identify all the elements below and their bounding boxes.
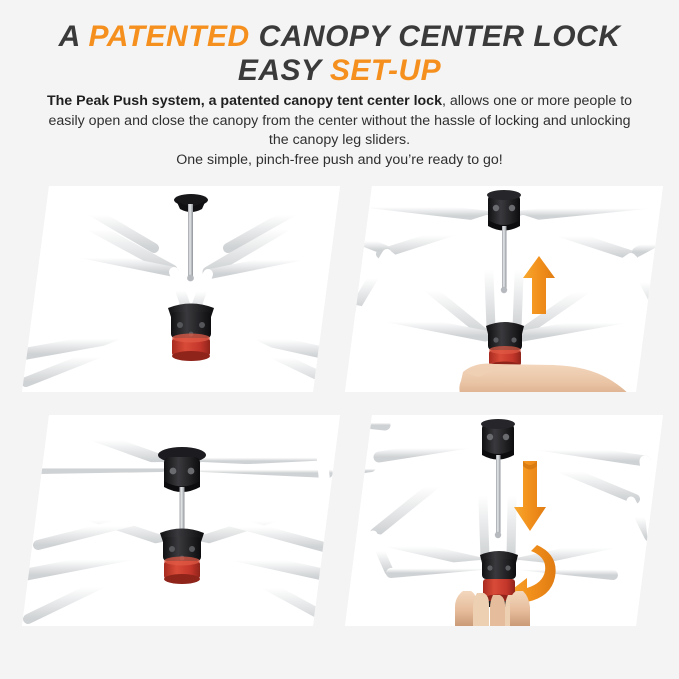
panel-grid (0, 186, 679, 641)
headline-line1-post: CANOPY CENTER LOCK (250, 20, 621, 53)
panel-top-left[interactable] (22, 186, 340, 392)
canopy-frame-release-twist-illustration (345, 415, 663, 626)
panel-top-right[interactable] (345, 186, 663, 392)
hands-grip-icon (455, 591, 530, 626)
page-title: A PATENTED CANOPY CENTER LOCK EASY SET-U… (0, 20, 679, 88)
panel-bottom-left[interactable] (22, 415, 340, 626)
center-lock-hub (486, 322, 524, 371)
peak-hub-icon (481, 419, 515, 460)
description-strong: The Peak Push system, a patented canopy … (47, 93, 442, 109)
canopy-frame-push-up-illustration (345, 186, 663, 392)
product-feature-infographic: A PATENTED CANOPY CENTER LOCK EASY SET-U… (0, 0, 679, 679)
center-rod (496, 455, 501, 533)
peak-hub-icon (158, 447, 206, 492)
headline-accent-patented: PATENTED (89, 20, 250, 53)
headline-line2-pre: EASY (238, 54, 330, 87)
center-rod (188, 204, 193, 276)
center-lock-hub (160, 529, 204, 585)
canopy-frame-collapsed-illustration (22, 186, 340, 392)
headline-line1-pre: A (59, 20, 89, 53)
description-paragraph: The Peak Push system, a patented canopy … (38, 92, 641, 170)
description-last-line: One simple, pinch-free push and you’re r… (176, 152, 503, 168)
headline-accent-setup: SET-UP (330, 54, 441, 87)
headline-line-2: EASY SET-UP (0, 54, 679, 88)
panel-bottom-right[interactable] (345, 415, 663, 626)
canopy-frame-locked-open-illustration (22, 415, 340, 626)
peak-hub-icon (487, 190, 521, 231)
headline-line-1: A PATENTED CANOPY CENTER LOCK (0, 20, 679, 54)
center-rod (502, 226, 507, 288)
center-lock-hub (168, 304, 214, 362)
